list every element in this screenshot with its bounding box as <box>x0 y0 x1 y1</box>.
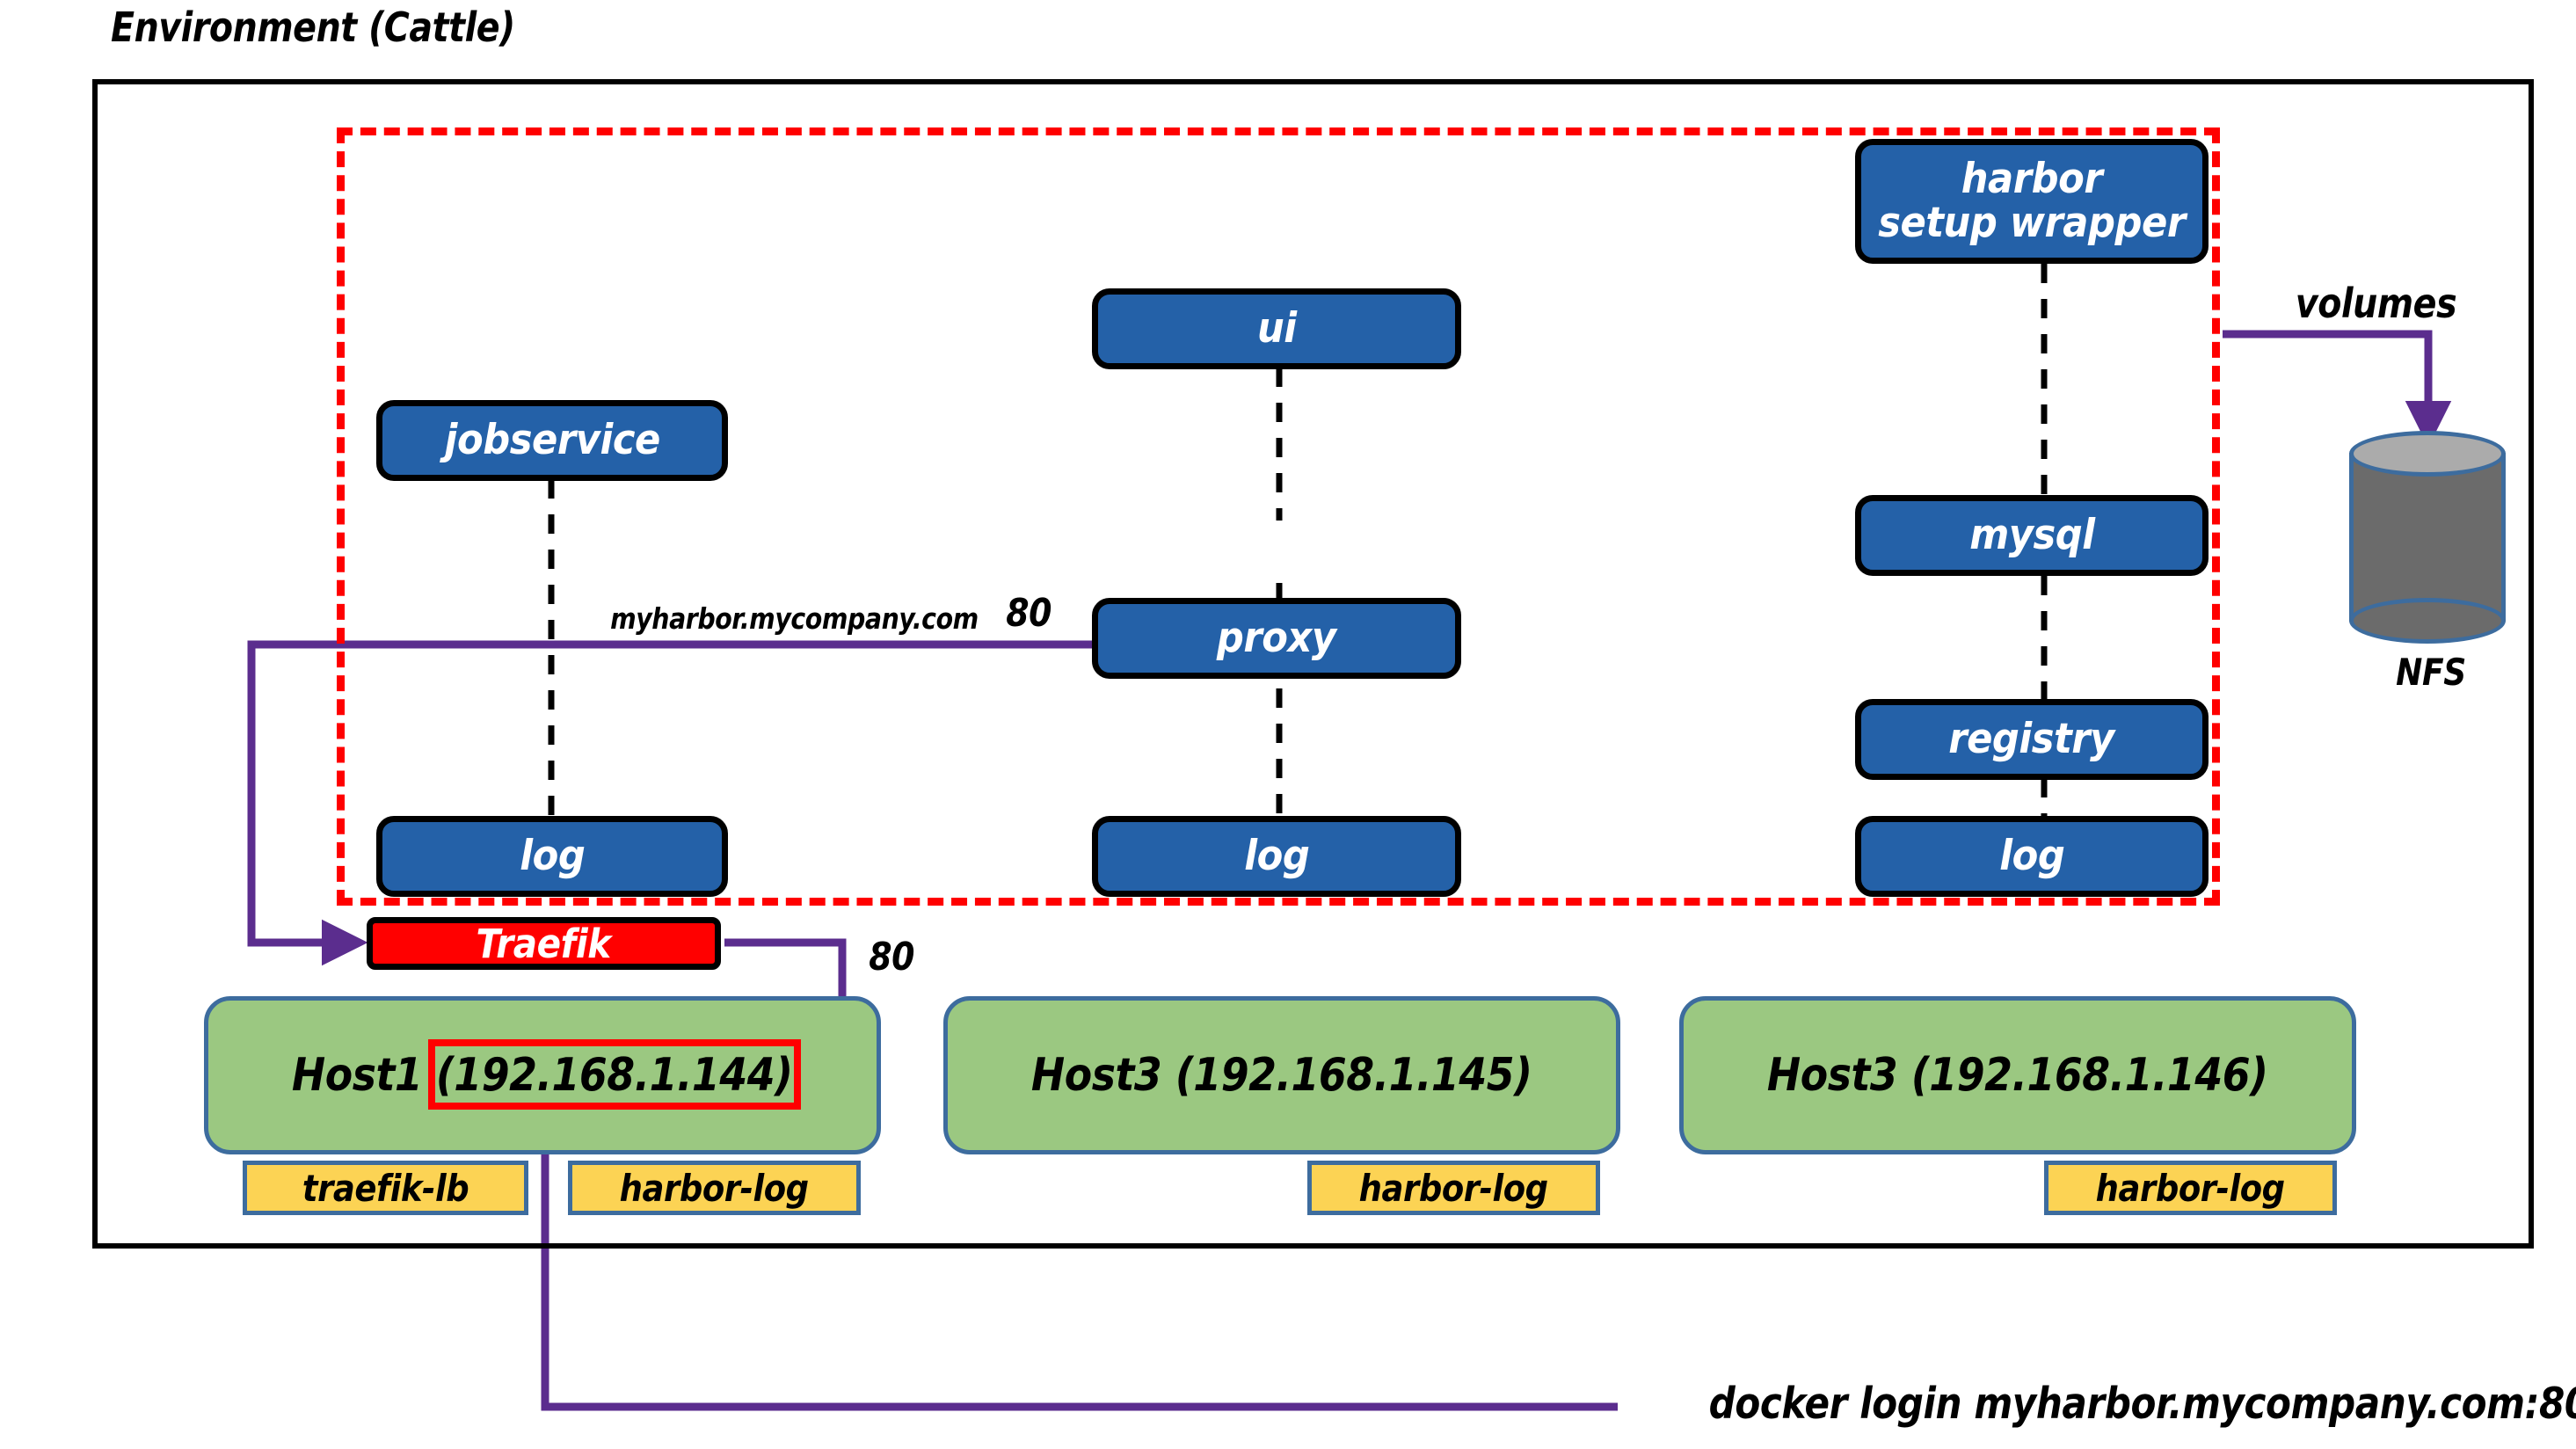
chip-traefik-lb[interactable]: traefik-lb <box>243 1161 528 1215</box>
diagram-canvas: Environment (Cattle) jobservice log ui p… <box>0 0 2576 1449</box>
nfs-cylinder-body <box>2349 453 2506 622</box>
annotation-port-traefik: 80 <box>869 935 914 979</box>
service-box-ui[interactable]: ui <box>1092 288 1461 369</box>
service-box-registry[interactable]: registry <box>1855 699 2209 780</box>
nfs-label: NFS <box>2382 651 2480 694</box>
annotation-volumes: volumes <box>2296 280 2456 327</box>
annotation-port-proxy: 80 <box>1006 591 1052 636</box>
service-box-mysql[interactable]: mysql <box>1855 495 2209 576</box>
traefik-box[interactable]: Traefik <box>367 917 721 970</box>
service-box-jobservice[interactable]: jobservice <box>376 400 728 481</box>
chip-harbor-log-host2[interactable]: harbor-log <box>1307 1161 1600 1215</box>
service-box-proxy[interactable]: proxy <box>1092 598 1461 679</box>
service-box-harbor-setup-wrapper[interactable]: harbor setup wrapper <box>1855 139 2209 264</box>
service-box-log-left[interactable]: log <box>376 816 728 897</box>
service-box-log-middle[interactable]: log <box>1092 816 1461 897</box>
chip-harbor-log-host1[interactable]: harbor-log <box>568 1161 861 1215</box>
nfs-cylinder-top <box>2349 431 2506 477</box>
nfs-cylinder-bottom <box>2349 598 2506 644</box>
chip-harbor-log-host3[interactable]: harbor-log <box>2044 1161 2337 1215</box>
host-box-host2[interactable]: Host3 (192.168.1.145) <box>943 996 1620 1154</box>
host1-ip-highlight <box>428 1039 801 1110</box>
nfs-cylinder-icon <box>2349 431 2506 644</box>
annotation-hostname: myharbor.mycompany.com <box>610 601 979 636</box>
annotation-docker-login: docker login myharbor.mycompany.com:80 <box>1709 1379 2576 1429</box>
host-box-host3[interactable]: Host3 (192.168.1.146) <box>1679 996 2356 1154</box>
environment-title: Environment (Cattle) <box>111 4 515 51</box>
service-box-log-right[interactable]: log <box>1855 816 2209 897</box>
